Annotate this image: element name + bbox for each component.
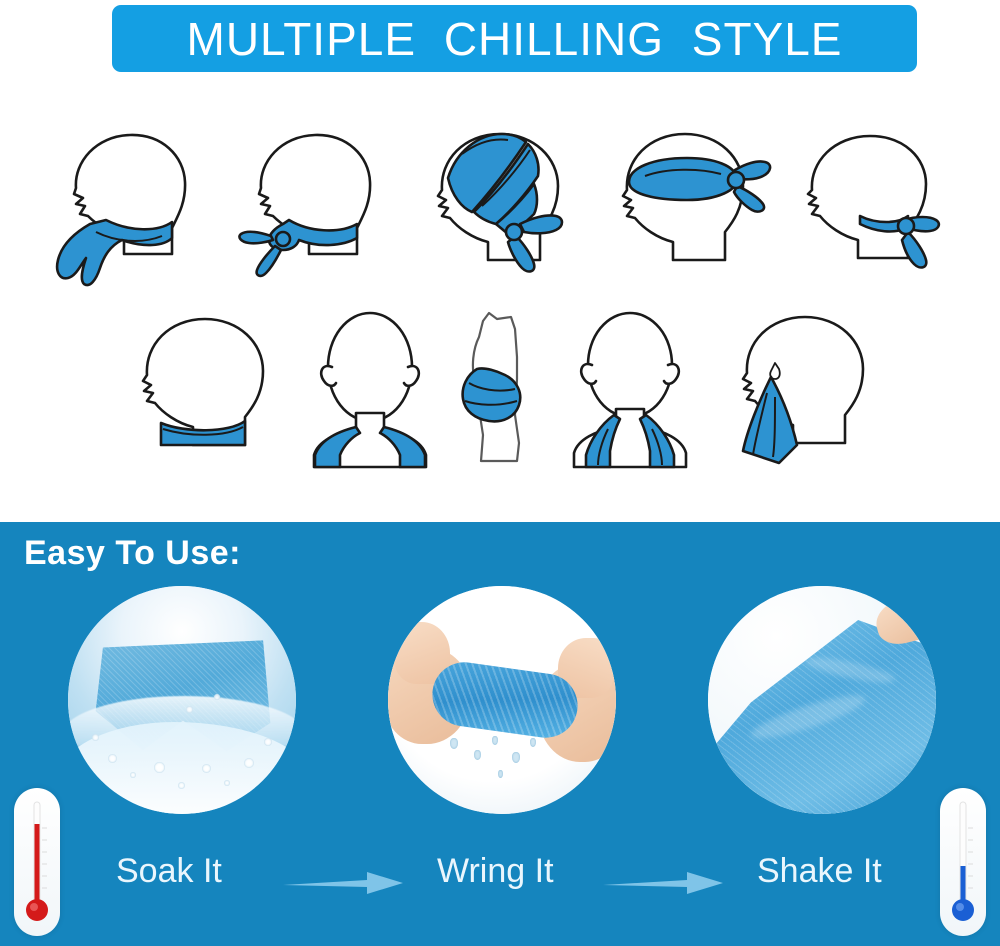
step-label-shake: Shake It	[757, 852, 882, 891]
figure-neck-knot-profile	[223, 120, 408, 295]
figure-face-wipe-profile	[713, 305, 888, 475]
figure-chest-drape-front	[548, 305, 713, 475]
figure-head-wrap-bandana	[408, 120, 593, 295]
styles-row-1	[0, 120, 1000, 295]
figure-neck-wrap-profile	[38, 120, 223, 295]
figure-shoulder-drape-front	[288, 305, 453, 475]
towel-in-water-photo	[68, 586, 296, 814]
product-infographic: MULTIPLE CHILLING STYLE	[0, 0, 1000, 946]
figure-wrist-wrap	[453, 305, 548, 475]
arrow-soak-to-wring	[281, 870, 405, 896]
shaking-towel-photo	[708, 586, 936, 814]
easy-to-use-panel: Easy To Use:	[0, 522, 1000, 946]
figure-neck-back-knot-profile	[778, 120, 963, 295]
figure-neck-collar-profile	[113, 305, 288, 475]
figure-headband-profile	[593, 120, 778, 295]
arrow-wring-to-shake	[601, 870, 725, 896]
chilling-styles-gallery	[0, 110, 1000, 510]
step-label-wring: Wring It	[437, 852, 554, 891]
step-label-soak: Soak It	[116, 852, 222, 891]
thermometer-cold	[940, 788, 986, 936]
page-title: MULTIPLE CHILLING STYLE	[187, 12, 843, 66]
hands-wringing-towel-photo	[388, 586, 616, 814]
thermometer-hot	[14, 788, 60, 936]
step-photos	[0, 578, 1000, 830]
easy-to-use-title: Easy To Use:	[24, 534, 241, 573]
header-banner: MULTIPLE CHILLING STYLE	[112, 5, 917, 72]
step-labels: Soak It Wring It Shake It	[0, 844, 1000, 914]
styles-row-2	[0, 305, 1000, 475]
